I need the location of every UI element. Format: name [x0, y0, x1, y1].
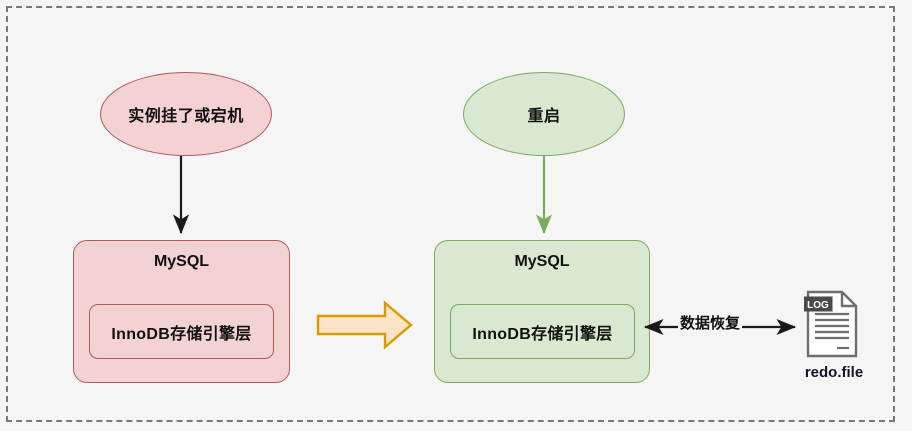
innodb-engine-layer-crashed[interactable]: InnoDB存储引擎层: [89, 304, 274, 359]
innodb-engine-layer-recovered[interactable]: InnoDB存储引擎层: [450, 304, 635, 359]
innodb-engine-layer-crashed-label: InnoDB存储引擎层: [111, 320, 251, 344]
mysql-container-crashed[interactable]: MySQL InnoDB存储引擎层: [73, 240, 290, 383]
log-badge-text: LOG: [807, 300, 829, 311]
node-instance-crashed-label: 实例挂了或宕机: [128, 102, 244, 126]
node-restart[interactable]: 重启: [463, 72, 625, 156]
mysql-container-recovered-title: MySQL: [435, 253, 649, 271]
redo-file-node[interactable]: LOG redo.file: [788, 288, 880, 394]
mysql-container-crashed-title: MySQL: [74, 253, 289, 271]
diagram-canvas: 实例挂了或宕机 MySQL InnoDB存储引擎层 重启 MySQL InnoD…: [0, 0, 912, 431]
redo-file-caption: redo.file: [788, 364, 880, 381]
node-restart-label: 重启: [527, 102, 560, 126]
log-file-icon: LOG: [804, 288, 860, 360]
recovery-arrow-label: 数据恢复: [678, 314, 742, 333]
innodb-engine-layer-recovered-label: InnoDB存储引擎层: [472, 320, 612, 344]
node-instance-crashed[interactable]: 实例挂了或宕机: [100, 72, 272, 156]
mysql-container-recovered[interactable]: MySQL InnoDB存储引擎层: [434, 240, 650, 383]
